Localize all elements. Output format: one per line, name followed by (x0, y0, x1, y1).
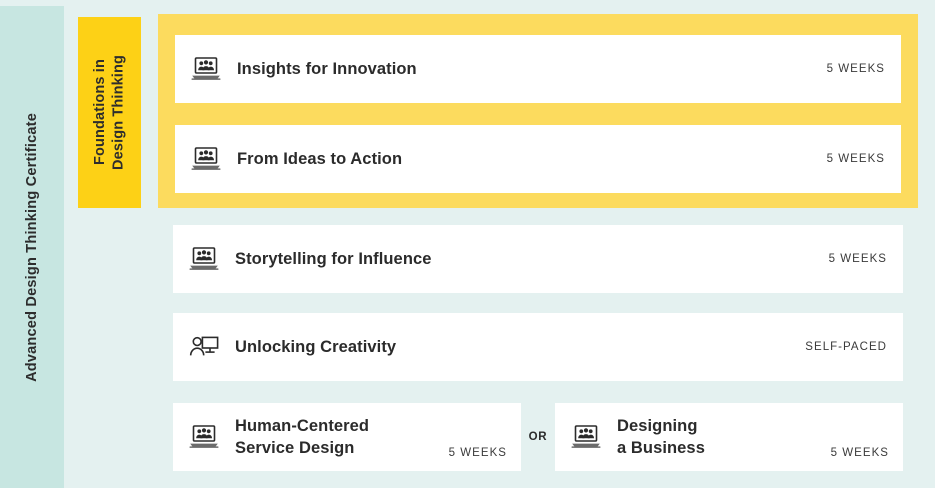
course-card[interactable]: From Ideas to Action 5 WEEKS (175, 125, 901, 193)
course-card[interactable]: Unlocking Creativity SELF-PACED (173, 313, 903, 381)
choice-separator-label: OR (529, 431, 548, 443)
course-duration: 5 WEEKS (829, 253, 887, 265)
course-card[interactable]: Insights for Innovation 5 WEEKS (175, 35, 901, 103)
course-title: Human-Centered Service Design (235, 415, 449, 460)
foundations-group-tag: Foundations in Design Thinking (78, 17, 141, 208)
course-duration: 5 WEEKS (827, 153, 885, 165)
laptop-group-icon (189, 144, 223, 174)
foundations-group-tag-label: Foundations in Design Thinking (91, 55, 128, 170)
certificate-rail: Advanced Design Thinking Certificate (0, 6, 64, 488)
person-screen-icon (187, 332, 221, 362)
elective-course-list: Storytelling for Influence 5 WEEKS Unloc… (173, 225, 903, 401)
certificate-title: Advanced Design Thinking Certificate (25, 113, 40, 382)
course-title: Insights for Innovation (237, 58, 827, 80)
course-duration: 5 WEEKS (827, 63, 885, 75)
course-choice-row: Human-Centered Service Design 5 WEEKS OR (173, 403, 903, 471)
course-title: From Ideas to Action (237, 148, 827, 170)
course-title: Storytelling for Influence (235, 248, 829, 270)
laptop-group-icon (187, 422, 221, 452)
foundations-group-tag-line2: Design Thinking (111, 55, 127, 170)
foundations-group-frame: Insights for Innovation 5 WEEKS From Ide… (158, 14, 918, 208)
laptop-group-icon (187, 244, 221, 274)
course-card[interactable]: Human-Centered Service Design 5 WEEKS (173, 403, 521, 471)
course-title-line1: Human-Centered (235, 417, 369, 435)
course-duration: SELF-PACED (805, 341, 887, 353)
course-duration: 5 WEEKS (449, 447, 507, 471)
choice-separator: OR (521, 403, 555, 471)
foundations-group-tag-line1: Foundations in (92, 60, 108, 166)
laptop-group-icon (569, 422, 603, 452)
course-title-line2: a Business (617, 439, 705, 457)
laptop-group-icon (189, 54, 223, 84)
course-title-line2: Service Design (235, 439, 354, 457)
course-duration: 5 WEEKS (831, 447, 889, 471)
course-card[interactable]: Storytelling for Influence 5 WEEKS (173, 225, 903, 293)
course-card[interactable]: Designing a Business 5 WEEKS (555, 403, 903, 471)
course-title-line1: Designing (617, 417, 698, 435)
course-title: Unlocking Creativity (235, 336, 805, 358)
course-pathway: Insights for Innovation 5 WEEKS From Ide… (158, 0, 935, 488)
course-title: Designing a Business (617, 415, 831, 460)
